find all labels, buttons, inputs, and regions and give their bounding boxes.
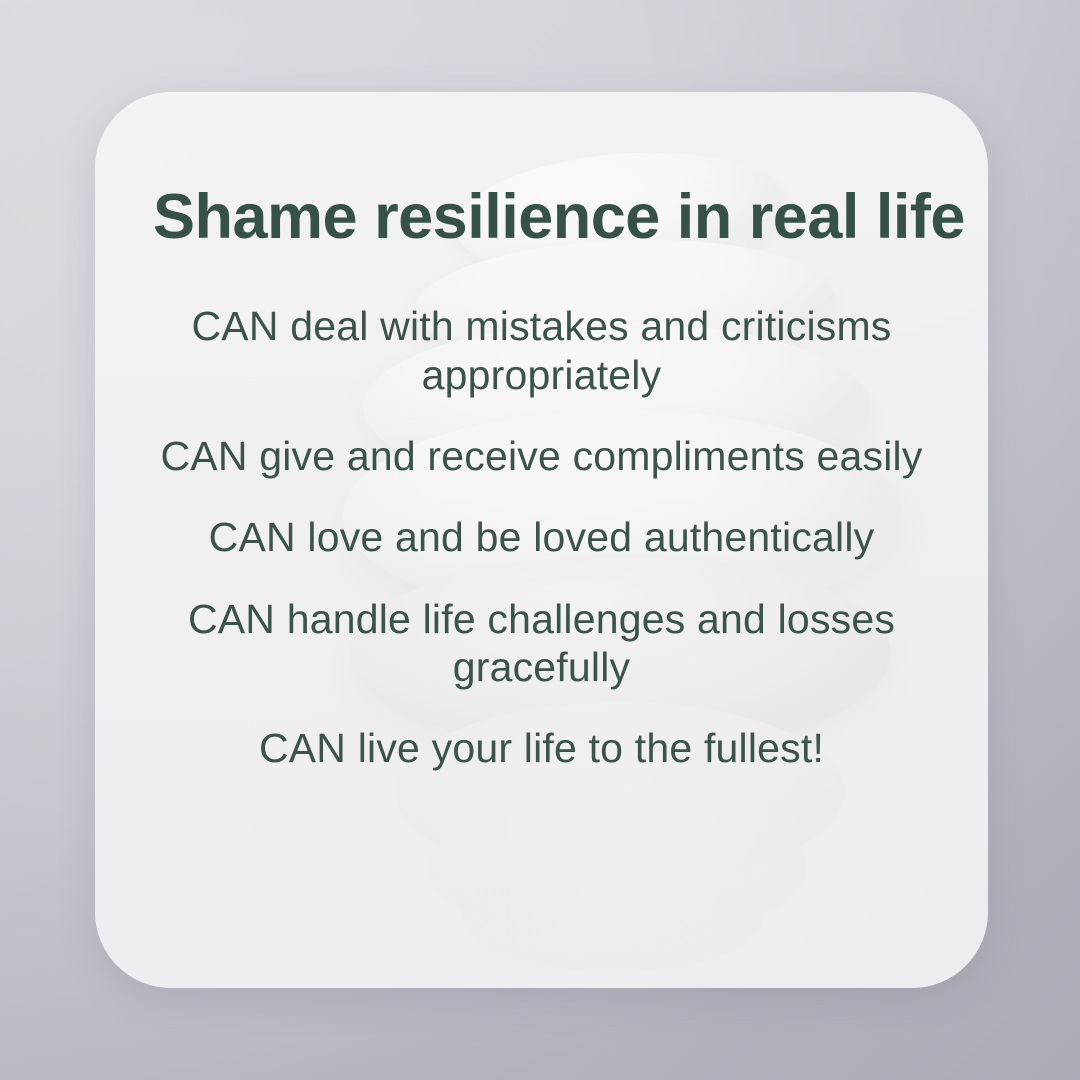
list-item: CAN deal with mistakes and criticisms ap…	[153, 302, 930, 399]
list-item: CAN give and receive compliments easily	[160, 432, 922, 480]
list-item: CAN live your life to the fullest!	[259, 724, 824, 772]
card-content: Shame resilience in real life CAN deal w…	[95, 92, 988, 988]
poster-canvas: Shame resilience in real life CAN deal w…	[0, 0, 1080, 1080]
statement-list: CAN deal with mistakes and criticisms ap…	[153, 302, 930, 773]
list-item: CAN handle life challenges and losses gr…	[153, 595, 930, 692]
quote-card: Shame resilience in real life CAN deal w…	[95, 92, 988, 988]
page-title: Shame resilience in real life	[153, 92, 930, 250]
list-item: CAN love and be loved authentically	[209, 513, 875, 561]
